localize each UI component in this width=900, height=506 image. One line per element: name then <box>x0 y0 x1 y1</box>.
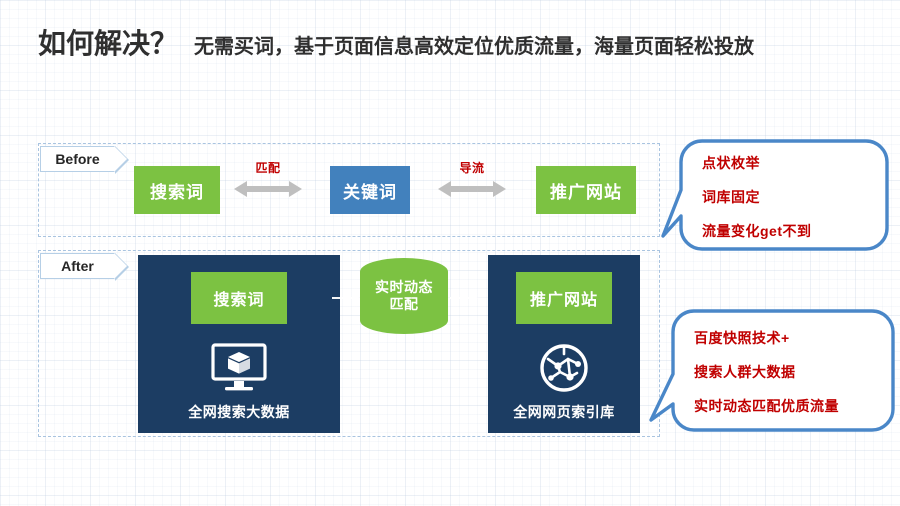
before-box-keyword[interactable]: 关键词 <box>330 166 410 214</box>
stage-tag-before: Before <box>40 146 115 172</box>
after-card-search-pill: 搜索词 <box>191 272 287 324</box>
before-box-search-term-label: 搜索词 <box>150 178 204 203</box>
after-card-page-index-pill-label: 推广网站 <box>530 286 598 310</box>
after-flow-row: 搜索词 全网搜索大数据 实时动态 <box>38 250 658 435</box>
before-connector-traffic: 导流 <box>434 159 510 205</box>
page-title: 如何解决？ 无需买词，基于页面信息高效定位优质流量，海量页面轻松投放 <box>38 22 878 74</box>
after-card-page-index-pill: 推广网站 <box>516 272 612 324</box>
globe-network-icon <box>534 342 594 394</box>
callout-before-problems[interactable]: 点状枚举 词库固定 流量变化get不到 <box>660 138 890 256</box>
mini-arrow-right-icon <box>332 292 360 304</box>
before-box-keyword-label: 关键词 <box>343 178 397 203</box>
before-connector-traffic-label: 导流 <box>434 159 510 176</box>
after-card-page-index-caption: 全网网页索引库 <box>513 402 615 422</box>
after-card-search-data[interactable]: 搜索词 全网搜索大数据 <box>138 255 340 433</box>
callout-line: 流量变化get不到 <box>702 221 882 241</box>
before-flow-row: 搜索词 匹配 关键词 导流 推广网站 <box>38 143 658 235</box>
double-arrow-icon <box>234 179 302 199</box>
after-card-search-pill-label: 搜索词 <box>213 286 264 310</box>
before-box-promo-site[interactable]: 推广网站 <box>536 166 636 214</box>
chevron-right-icon <box>114 253 127 279</box>
mini-arrow-right-icon <box>450 292 478 304</box>
after-card-search-caption: 全网搜索大数据 <box>188 402 290 422</box>
callout-line: 词库固定 <box>702 187 882 207</box>
callout-line: 实时动态匹配优质流量 <box>694 396 890 416</box>
callout-line: 点状枚举 <box>702 153 882 173</box>
after-cylinder-realtime-match[interactable]: 实时动态 匹配 <box>360 258 448 334</box>
monitor-box-icon <box>209 342 269 394</box>
before-box-search-term[interactable]: 搜索词 <box>134 166 220 214</box>
callout-after-benefits-text: 百度快照技术+ 搜索人群大数据 实时动态匹配优质流量 <box>694 316 890 428</box>
after-cylinder-line1: 实时动态 <box>375 279 433 297</box>
before-connector-match-label: 匹配 <box>230 159 306 176</box>
before-box-promo-site-label: 推广网站 <box>550 178 622 203</box>
callout-line: 百度快照技术+ <box>694 328 890 348</box>
after-card-page-index[interactable]: 推广网站 <box>488 255 640 433</box>
callout-after-benefits[interactable]: 百度快照技术+ 搜索人群大数据 实时动态匹配优质流量 <box>648 308 896 436</box>
stage-tag-after: After <box>40 253 115 279</box>
callout-line: 搜索人群大数据 <box>694 362 890 382</box>
chevron-right-icon <box>114 146 127 172</box>
before-connector-match: 匹配 <box>230 159 306 205</box>
double-arrow-icon <box>438 179 506 199</box>
after-cylinder-line2: 匹配 <box>390 296 419 314</box>
stage-tag-before-label: Before <box>55 151 99 167</box>
title-main-text: 如何解决？ <box>38 22 178 62</box>
stage-tag-after-label: After <box>61 258 94 274</box>
slide-canvas: 如何解决？ 无需买词，基于页面信息高效定位优质流量，海量页面轻松投放 Befor… <box>0 0 900 506</box>
title-subtitle-text: 无需买词，基于页面信息高效定位优质流量，海量页面轻松投放 <box>194 30 754 59</box>
callout-before-problems-text: 点状枚举 词库固定 流量变化get不到 <box>702 146 882 248</box>
